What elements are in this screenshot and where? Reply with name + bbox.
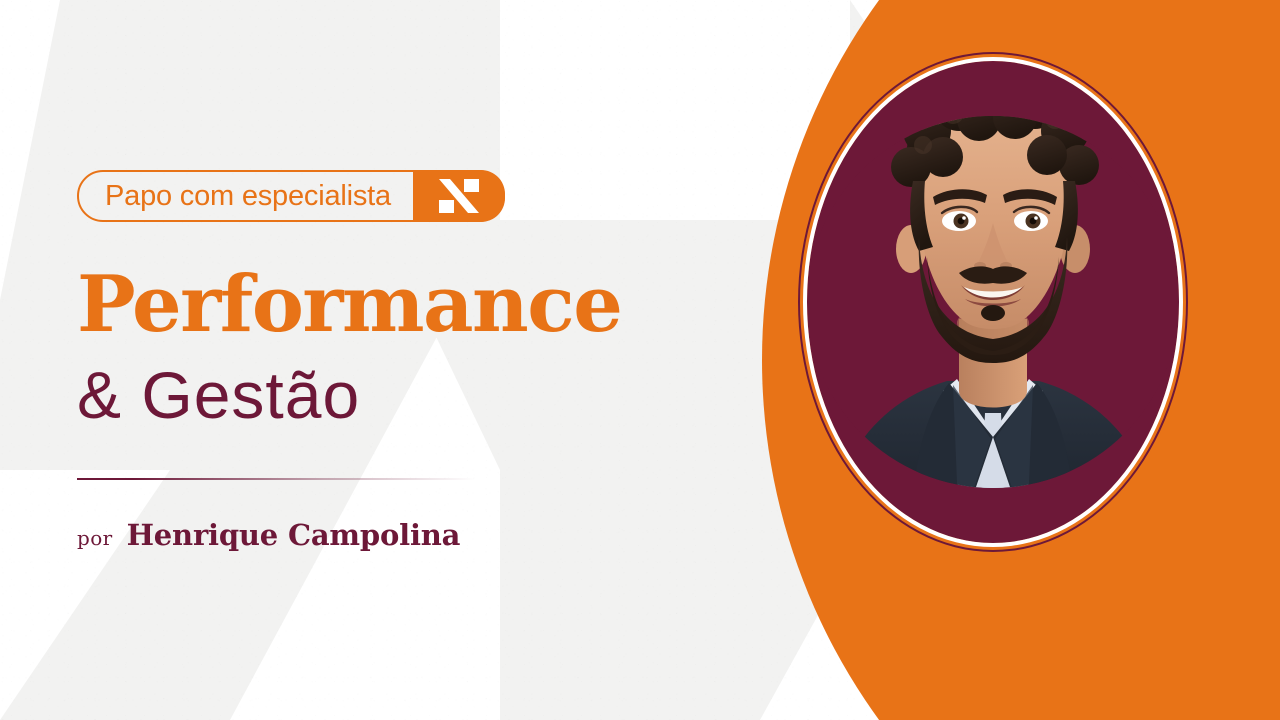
content-column: Papo com especialista Performance & Gest…: [77, 0, 777, 720]
portrait-ring-outline: [798, 52, 1188, 552]
series-badge[interactable]: Papo com especialista: [77, 170, 505, 222]
headline-secondary: & Gestão: [77, 362, 360, 428]
series-badge-label: Papo com especialista: [79, 172, 413, 220]
speaker-portrait: [798, 52, 1188, 552]
byline: por Henrique Campolina: [77, 518, 460, 552]
slide-canvas: Papo com especialista Performance & Gest…: [0, 0, 1280, 720]
headline-primary: Performance: [77, 268, 621, 342]
byline-prefix: por: [77, 526, 113, 550]
byline-speaker-name: Henrique Campolina: [127, 518, 461, 552]
nexa-n-mark-logo-icon: [413, 170, 505, 222]
section-divider: [77, 478, 475, 480]
